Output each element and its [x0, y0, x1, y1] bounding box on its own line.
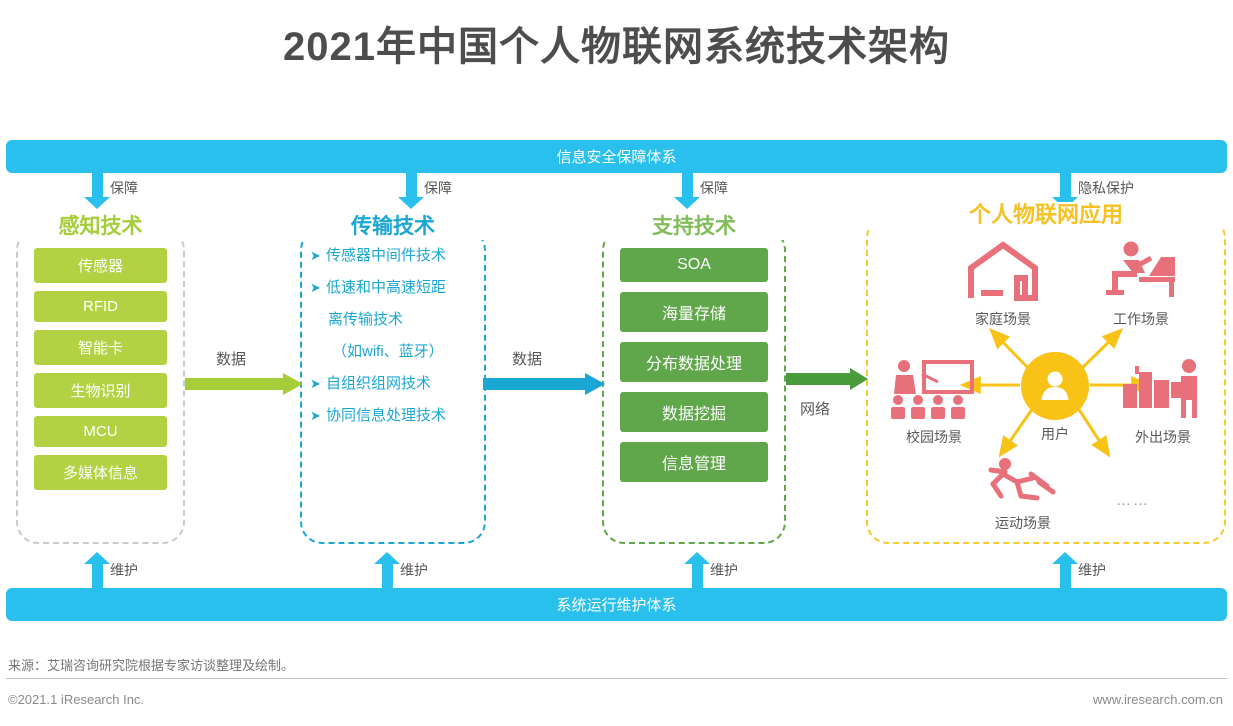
column-sensing-title: 感知技术	[18, 214, 183, 240]
scene-work[interactable]: 工作场景	[1082, 240, 1200, 329]
chip-multimedia[interactable]: 多媒体信息	[34, 455, 167, 490]
chip-mass-storage[interactable]: 海量存储	[620, 292, 768, 332]
chip-data-mining[interactable]: 数据挖掘	[620, 392, 768, 432]
scene-home[interactable]: 家庭场景	[944, 240, 1062, 329]
column-personal-iot-application: 个人物联网应用 用户	[866, 216, 1226, 544]
column-sensing-technology: 感知技术 传感器 RFID 智能卡 生物识别 MCU 多媒体信息	[16, 228, 185, 544]
arrow-up-application-label: 维护	[1078, 560, 1106, 580]
bullet-label-shortrange-cont: 离传输技术	[328, 310, 476, 330]
scene-campus[interactable]: 校园场景	[874, 358, 994, 447]
scene-home-label: 家庭场景	[944, 309, 1062, 329]
page-title: 2021年中国个人物联网系统技术架构	[0, 14, 1233, 72]
scene-outgoing-label: 外出场景	[1104, 427, 1222, 447]
connector-data-2-label: 数据	[512, 348, 542, 369]
connector-data-2	[483, 373, 605, 395]
bullet-label-middleware: 传感器中间件技术	[326, 246, 446, 266]
sensing-chip-list: 传感器 RFID 智能卡 生物识别 MCU 多媒体信息	[34, 248, 167, 498]
bullet-label-wifi-bluetooth: （如wifi、蓝牙）	[332, 342, 476, 362]
arrow-down-application-label: 隐私保护	[1078, 178, 1134, 198]
chip-sensor[interactable]: 传感器	[34, 248, 167, 283]
diagram-page: 2021年中国个人物联网系统技术架构 信息安全保障体系 系统运行维护体系 保障 …	[0, 0, 1233, 726]
user-label: 用户	[1001, 424, 1109, 444]
list-item[interactable]: ➤ 自组织组网技术	[310, 374, 476, 394]
chip-soa[interactable]: SOA	[620, 248, 768, 282]
maintenance-banner: 系统运行维护体系	[6, 588, 1227, 621]
column-support-title: 支持技术	[604, 214, 784, 240]
chip-smartcard[interactable]: 智能卡	[34, 330, 167, 365]
security-banner-label: 信息安全保障体系	[556, 146, 676, 167]
chip-mcu[interactable]: MCU	[34, 416, 167, 447]
chevron-right-icon: ➤	[310, 406, 326, 426]
transmission-bullet-list: ➤ 传感器中间件技术 ➤ 低速和中高速短距 离传输技术 （如wifi、蓝牙） ➤…	[310, 246, 476, 438]
chevron-right-icon: ➤	[310, 246, 326, 266]
list-item[interactable]: ➤ 传感器中间件技术	[310, 246, 476, 266]
scene-work-label: 工作场景	[1082, 309, 1200, 329]
connector-data-1-label: 数据	[216, 348, 246, 369]
bullet-label-adhoc: 自组织组网技术	[326, 374, 431, 394]
scene-ellipsis: ……	[1116, 492, 1150, 509]
list-item[interactable]: ➤ 协同信息处理技术	[310, 406, 476, 426]
scene-sports[interactable]: 运动场景	[964, 456, 1082, 533]
arrow-up-transmission-label: 维护	[400, 560, 428, 580]
column-transmission-title: 传输技术	[302, 214, 484, 240]
chevron-right-icon: ➤	[310, 278, 326, 298]
list-item[interactable]: ➤ 低速和中高速短距	[310, 278, 476, 298]
column-transmission-technology: 传输技术 ➤ 传感器中间件技术 ➤ 低速和中高速短距 离传输技术 （如wifi、…	[300, 228, 486, 544]
arrow-down-sense-label: 保障	[110, 178, 138, 198]
footer-divider	[6, 678, 1227, 679]
column-support-technology: 支持技术 SOA 海量存储 分布数据处理 数据挖掘 信息管理	[602, 228, 786, 544]
copyright-text: ©2021.1 iResearch Inc.	[8, 692, 144, 707]
chip-rfid[interactable]: RFID	[34, 291, 167, 322]
arrow-down-support-label: 保障	[700, 178, 728, 198]
maintenance-banner-label: 系统运行维护体系	[556, 594, 676, 615]
user-icon	[1035, 366, 1075, 406]
running-icon	[983, 456, 1063, 506]
website-text: www.iresearch.com.cn	[1093, 692, 1223, 707]
connector-network-label: 网络	[800, 398, 830, 419]
home-icon	[965, 240, 1041, 302]
chip-info-management[interactable]: 信息管理	[620, 442, 768, 482]
scene-campus-label: 校园场景	[874, 427, 994, 447]
scene-outgoing[interactable]: 外出场景	[1104, 358, 1222, 447]
desk-work-icon	[1101, 240, 1181, 302]
connector-data-1	[185, 373, 303, 395]
arrow-down-transmission-label: 保障	[424, 178, 452, 198]
scene-sports-label: 运动场景	[964, 513, 1082, 533]
classroom-icon	[886, 358, 982, 420]
security-banner: 信息安全保障体系	[6, 140, 1227, 173]
chip-distributed-data[interactable]: 分布数据处理	[620, 342, 768, 382]
arrow-up-support-label: 维护	[710, 560, 738, 580]
bullet-label-shortrange: 低速和中高速短距	[326, 278, 446, 298]
source-note: 来源：艾瑞咨询研究院根据专家访谈整理及绘制。	[8, 655, 294, 674]
support-chip-list: SOA 海量存储 分布数据处理 数据挖掘 信息管理	[620, 248, 768, 492]
travel-luggage-icon	[1119, 358, 1207, 420]
connector-network	[786, 368, 870, 390]
chip-biometrics[interactable]: 生物识别	[34, 373, 167, 408]
user-avatar[interactable]	[1021, 352, 1089, 420]
arrow-up-sense-label: 维护	[110, 560, 138, 580]
bullet-label-collaborative: 协同信息处理技术	[326, 406, 446, 426]
chevron-right-icon: ➤	[310, 374, 326, 394]
